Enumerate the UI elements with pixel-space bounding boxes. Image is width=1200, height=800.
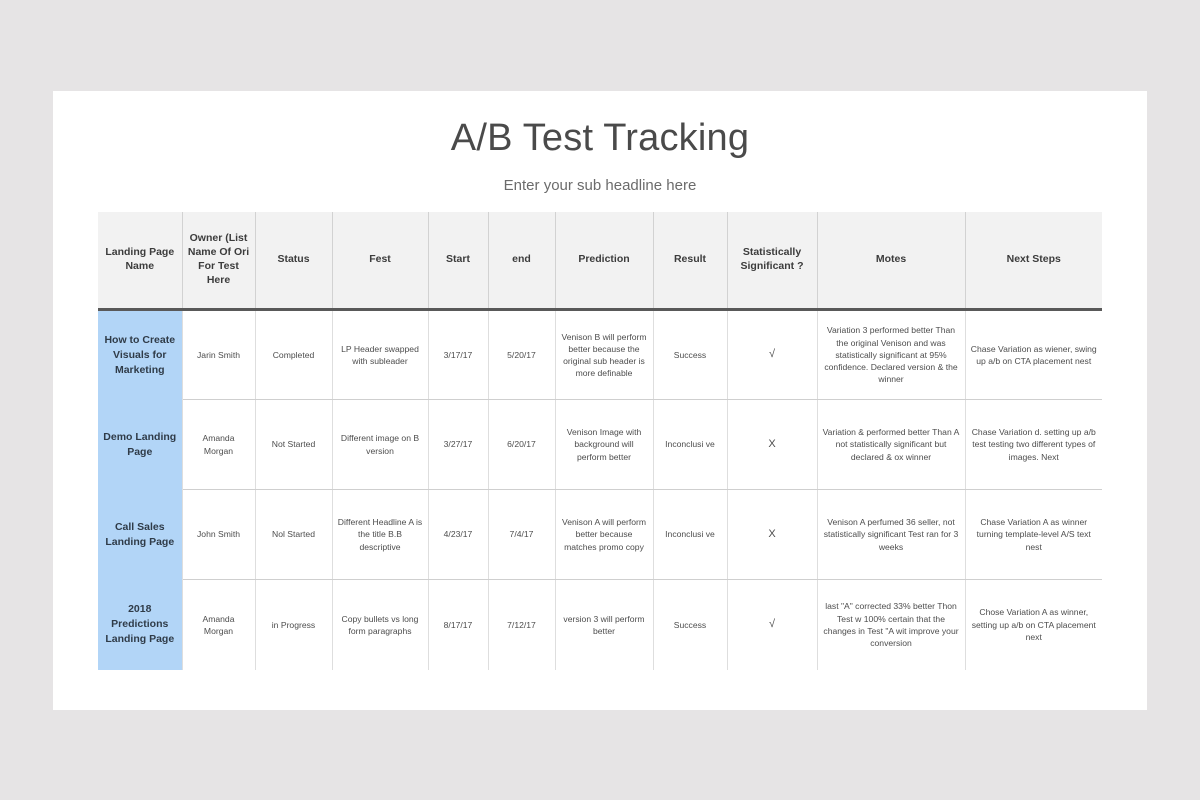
column-header-landing-page-name: Landing Page Name	[98, 212, 182, 310]
cell-status: Completed	[255, 310, 332, 400]
cell-prediction: Venison A will perform better because ma…	[555, 490, 653, 580]
cell-fest: Different Headline A is the title B.B de…	[332, 490, 428, 580]
cell-owner: John Smith	[182, 490, 255, 580]
cell-next-steps: Chose Variation A as winner, setting up …	[965, 580, 1102, 670]
table-body: How to Create Visuals for Marketing Jari…	[98, 310, 1102, 670]
column-header-end: end	[488, 212, 555, 310]
ab-test-table: Landing Page Name Owner (List Name Of Or…	[98, 212, 1102, 670]
cell-motes: Venison A perfumed 36 seller, not statis…	[817, 490, 965, 580]
cell-motes: Variation 3 performed better Than the or…	[817, 310, 965, 400]
cell-start: 3/17/17	[428, 310, 488, 400]
cell-landing-page-name: Demo Landing Page	[98, 400, 182, 490]
cell-fest: LP Header swapped with subleader	[332, 310, 428, 400]
cell-next-steps: Chase Variation A as winner turning temp…	[965, 490, 1102, 580]
cell-start: 4/23/17	[428, 490, 488, 580]
column-header-statistically-significant: Statistically Significant ?	[727, 212, 817, 310]
column-header-next-steps: Next Steps	[965, 212, 1102, 310]
table-row: Call Sales Landing Page John Smith Nol S…	[98, 490, 1102, 580]
cell-owner: Amanda Morgan	[182, 580, 255, 670]
cell-next-steps: Chase Variation as wiener, swing up a/b …	[965, 310, 1102, 400]
table-row: 2018 Predictions Landing Page Amanda Mor…	[98, 580, 1102, 670]
cell-status: in Progress	[255, 580, 332, 670]
column-header-fest: Fest	[332, 212, 428, 310]
column-header-result: Result	[653, 212, 727, 310]
table-header: Landing Page Name Owner (List Name Of Or…	[98, 212, 1102, 310]
cell-motes: Variation & performed better Than A not …	[817, 400, 965, 490]
cell-next-steps: Chase Variation d. setting up a/b test t…	[965, 400, 1102, 490]
table-header-row: Landing Page Name Owner (List Name Of Or…	[98, 212, 1102, 310]
column-header-prediction: Prediction	[555, 212, 653, 310]
cell-prediction: Venison B will perform better because th…	[555, 310, 653, 400]
cell-statistically-significant: X	[727, 490, 817, 580]
cell-result: Success	[653, 310, 727, 400]
column-header-status: Status	[255, 212, 332, 310]
table-row: Demo Landing Page Amanda Morgan Not Star…	[98, 400, 1102, 490]
cell-end: 7/4/17	[488, 490, 555, 580]
cell-fest: Different image on B version	[332, 400, 428, 490]
table-row: How to Create Visuals for Marketing Jari…	[98, 310, 1102, 400]
cell-landing-page-name: 2018 Predictions Landing Page	[98, 580, 182, 670]
cell-status: Not Started	[255, 400, 332, 490]
cell-status: Nol Started	[255, 490, 332, 580]
cell-end: 5/20/17	[488, 310, 555, 400]
cell-result: Success	[653, 580, 727, 670]
cell-landing-page-name: Call Sales Landing Page	[98, 490, 182, 580]
cell-statistically-significant: √	[727, 580, 817, 670]
page-subtitle: Enter your sub headline here	[53, 160, 1147, 194]
cell-end: 6/20/17	[488, 400, 555, 490]
cell-statistically-significant: X	[727, 400, 817, 490]
cell-fest: Copy bullets vs long form paragraphs	[332, 580, 428, 670]
column-header-start: Start	[428, 212, 488, 310]
cell-owner: Jarin Smith	[182, 310, 255, 400]
page-title: A/B Test Tracking	[53, 91, 1147, 160]
cell-end: 7/12/17	[488, 580, 555, 670]
cell-start: 3/27/17	[428, 400, 488, 490]
column-header-motes: Motes	[817, 212, 965, 310]
slide-card: A/B Test Tracking Enter your sub headlin…	[53, 91, 1147, 710]
ab-test-table-container: Landing Page Name Owner (List Name Of Or…	[98, 212, 1102, 670]
column-header-owner: Owner (List Name Of Ori For Test Here	[182, 212, 255, 310]
cell-statistically-significant: √	[727, 310, 817, 400]
cell-prediction: Venison Image with background will perfo…	[555, 400, 653, 490]
cell-owner: Amanda Morgan	[182, 400, 255, 490]
cell-motes: last "A" corrected 33% better Thon Test …	[817, 580, 965, 670]
cell-prediction: version 3 will perform better	[555, 580, 653, 670]
cell-result: Inconclusi ve	[653, 400, 727, 490]
cell-landing-page-name: How to Create Visuals for Marketing	[98, 310, 182, 400]
cell-result: Inconclusi ve	[653, 490, 727, 580]
cell-start: 8/17/17	[428, 580, 488, 670]
